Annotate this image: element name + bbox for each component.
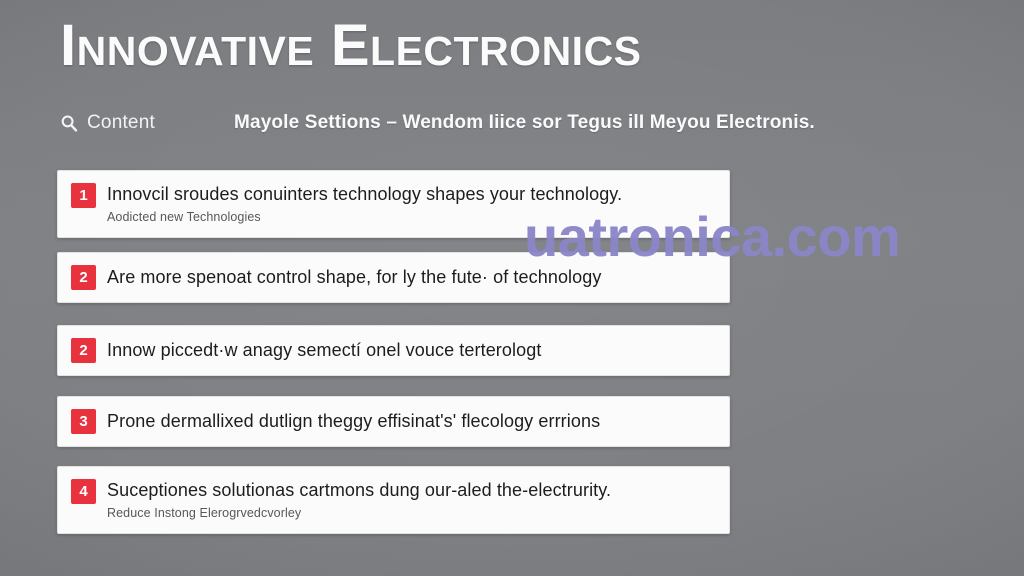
list-item-badge: 4: [71, 479, 96, 504]
list-item[interactable]: 2 Innow piccedt·w anagy semectí onel vou…: [57, 325, 730, 376]
list-item-title: Prone dermallixed dutlign theggy effisin…: [107, 410, 715, 433]
list-item-title: Innow piccedt·w anagy semectí onel vouce…: [107, 339, 715, 362]
content-label: Content: [87, 112, 155, 134]
list-item[interactable]: 3 Prone dermallixed dutlign theggy effis…: [57, 396, 730, 447]
page-title: Innovative Electronics: [60, 14, 642, 78]
list-item-title: Are more spenoat control shape, for ly t…: [107, 266, 715, 289]
list-item[interactable]: 4 Suceptiones solutionas cartmons dung o…: [57, 466, 730, 534]
list-item-title: Innovcil sroudes conuinters technology s…: [107, 183, 715, 206]
list-item[interactable]: 1 Innovcil sroudes conuinters technology…: [57, 170, 730, 238]
list-item-badge: 1: [71, 183, 96, 208]
list-item-badge: 3: [71, 409, 96, 434]
header-subtitle: Mayole Settions – Wendom Iiice sor Tegus…: [234, 110, 815, 136]
list-item[interactable]: 2 Are more spenoat control shape, for ly…: [57, 252, 730, 303]
list-item-badge: 2: [71, 338, 96, 363]
slide-canvas: Innovative Electronics Content Mayole Se…: [0, 0, 1024, 576]
list-item-subtitle: Reduce Instong Elerogrvedcvorley: [107, 505, 715, 522]
list-item-subtitle: Aodicted new Technologies: [107, 209, 715, 226]
list-item-title: Suceptiones solutionas cartmons dung our…: [107, 479, 715, 502]
content-search-row[interactable]: Content: [60, 110, 155, 136]
search-icon[interactable]: [60, 114, 78, 132]
list-item-badge: 2: [71, 265, 96, 290]
